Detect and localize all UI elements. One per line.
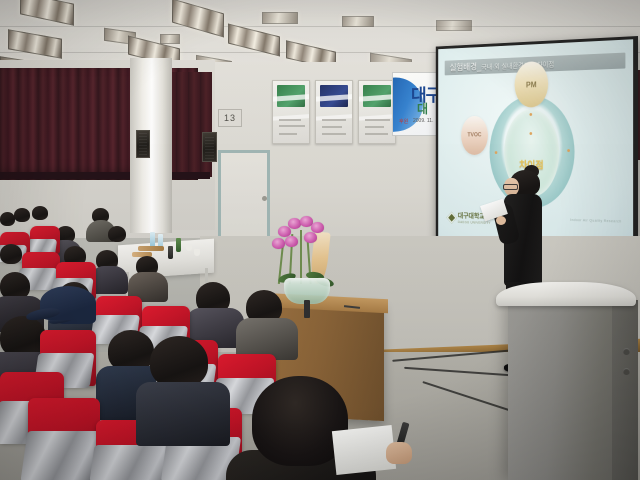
attendee-head [32, 206, 48, 220]
banner-date: 2009. 11. [413, 118, 433, 124]
ceiling-light-fixture [8, 29, 62, 59]
banner-subtitle: 대 [417, 100, 428, 117]
attendee-head [108, 226, 126, 242]
orchid-bloom [304, 232, 317, 243]
curtain-hem [0, 172, 210, 179]
door-handle[interactable] [262, 196, 267, 201]
attendee-head [150, 336, 208, 388]
glasses-icon [503, 184, 518, 190]
ceiling-light-fixture [262, 12, 298, 24]
lectern-side-panel [612, 300, 638, 480]
lectern-knob[interactable] [623, 368, 630, 375]
diagram-bubble-tvoc-label: TVOC [461, 133, 488, 139]
snack-tray [138, 246, 164, 251]
lectern [508, 296, 626, 480]
ceiling-light-fixture [436, 20, 472, 31]
diagram-bubble-pm-label: PM [515, 80, 549, 90]
slide-footer-text: Indoor Air Quality Research [570, 218, 621, 223]
ceiling-light-fixture [20, 0, 74, 26]
diagram-marker-dot [529, 132, 532, 135]
refreshment-table [118, 239, 214, 280]
microphone-base[interactable] [304, 300, 310, 318]
paper-cup [194, 249, 200, 256]
diagram-marker-dot [529, 113, 532, 116]
auditorium-seat[interactable] [28, 398, 100, 480]
wall-notice-frames [272, 80, 394, 143]
diagram-marker-dot [567, 149, 570, 152]
lectern-knob[interactable] [623, 348, 630, 355]
room-number-sign: 13 [218, 109, 242, 127]
notice-frame [315, 80, 353, 144]
paper-cup [186, 244, 192, 251]
diagram-marker-dot [495, 151, 498, 154]
diamond-logo-icon [446, 211, 456, 223]
presenter-hand [496, 216, 506, 225]
attendee-head [0, 244, 22, 264]
attendee-cap [40, 286, 96, 320]
wall-speaker [202, 132, 217, 162]
attendee-head [0, 212, 15, 226]
foreground-attendee [238, 398, 428, 480]
ceiling-light-fixture [172, 0, 224, 37]
orchid-bloom [285, 236, 298, 247]
attendee-torso [136, 382, 230, 446]
auditorium-seat[interactable] [30, 226, 60, 254]
orchid-plant [272, 216, 342, 306]
beverage-bottle [168, 246, 173, 259]
wall-speaker [136, 130, 150, 158]
beverage-bottle [176, 238, 181, 252]
ceiling-light-fixture [342, 16, 374, 27]
orchid-bloom [288, 218, 301, 229]
notice-frame [358, 80, 396, 144]
slide-title-main: 실험배경_ [450, 62, 482, 73]
orchid-bloom [311, 222, 324, 233]
notice-frame [272, 80, 310, 144]
ceiling-vent [160, 34, 180, 44]
lecture-hall-photo: 13 대구 대 후원 2009. 11. [0, 0, 640, 480]
diagram-bubble-tvoc: TVOC [461, 116, 488, 155]
lectern-desktop [496, 282, 636, 306]
foreground-attendee-hand [386, 442, 412, 464]
banner-badge: 후원 [399, 118, 408, 125]
orchid-bloom [272, 238, 285, 249]
attendee-head [14, 208, 30, 222]
